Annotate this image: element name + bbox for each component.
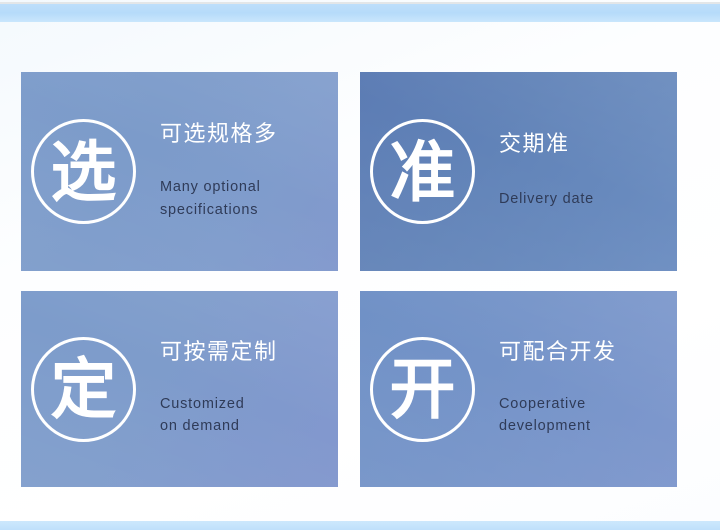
feature-card-customized[interactable]: 定 可按需定制 Customized on demand	[21, 291, 338, 487]
badge-character: 开	[390, 357, 456, 423]
card-text-column: 可按需定制 Customized on demand	[160, 340, 338, 437]
feature-grid-page: 选 可选规格多 Many optional specifications 准 交	[0, 0, 720, 530]
card-text-column: 交期准 Delivery date	[499, 132, 677, 211]
circle-badge-icon: 选	[31, 119, 136, 224]
card-subtitle-en: Customized on demand	[160, 393, 330, 438]
top-hairline	[0, 2, 720, 4]
feature-card-delivery-date[interactable]: 准 交期准 Delivery date	[360, 72, 677, 271]
badge-character: 选	[51, 140, 117, 206]
card-content: 准 交期准 Delivery date	[360, 119, 677, 224]
subtitle-line: Many optional	[160, 176, 330, 198]
card-title-cn: 交期准	[499, 132, 669, 158]
subtitle-line: on demand	[160, 415, 330, 437]
subtitle-line: Cooperative	[499, 393, 669, 415]
feature-card-cooperative-development[interactable]: 开 可配合开发 Cooperative development	[360, 291, 677, 487]
card-content: 定 可按需定制 Customized on demand	[21, 337, 338, 442]
subtitle-line: specifications	[160, 199, 330, 221]
card-subtitle-en: Many optional specifications	[160, 176, 330, 221]
feature-card-grid: 选 可选规格多 Many optional specifications 准 交	[21, 72, 677, 487]
card-title-cn: 可按需定制	[160, 340, 330, 366]
card-subtitle-en: Cooperative development	[499, 393, 669, 438]
subtitle-line: Delivery date	[499, 188, 669, 210]
card-text-column: 可配合开发 Cooperative development	[499, 340, 677, 437]
card-subtitle-en: Delivery date	[499, 188, 669, 210]
feature-card-optional-specs[interactable]: 选 可选规格多 Many optional specifications	[21, 72, 338, 271]
circle-badge-icon: 定	[31, 337, 136, 442]
subtitle-line: development	[499, 415, 669, 437]
card-title-cn: 可配合开发	[499, 340, 669, 366]
card-text-column: 可选规格多 Many optional specifications	[160, 122, 338, 221]
badge-character: 定	[51, 357, 117, 423]
bottom-accent-band	[0, 521, 720, 530]
badge-character: 准	[390, 140, 456, 206]
card-content: 选 可选规格多 Many optional specifications	[21, 119, 338, 224]
top-accent-band	[0, 2, 720, 22]
card-title-cn: 可选规格多	[160, 122, 330, 148]
subtitle-line: Customized	[160, 393, 330, 415]
card-content: 开 可配合开发 Cooperative development	[360, 337, 677, 442]
circle-badge-icon: 准	[370, 119, 475, 224]
circle-badge-icon: 开	[370, 337, 475, 442]
